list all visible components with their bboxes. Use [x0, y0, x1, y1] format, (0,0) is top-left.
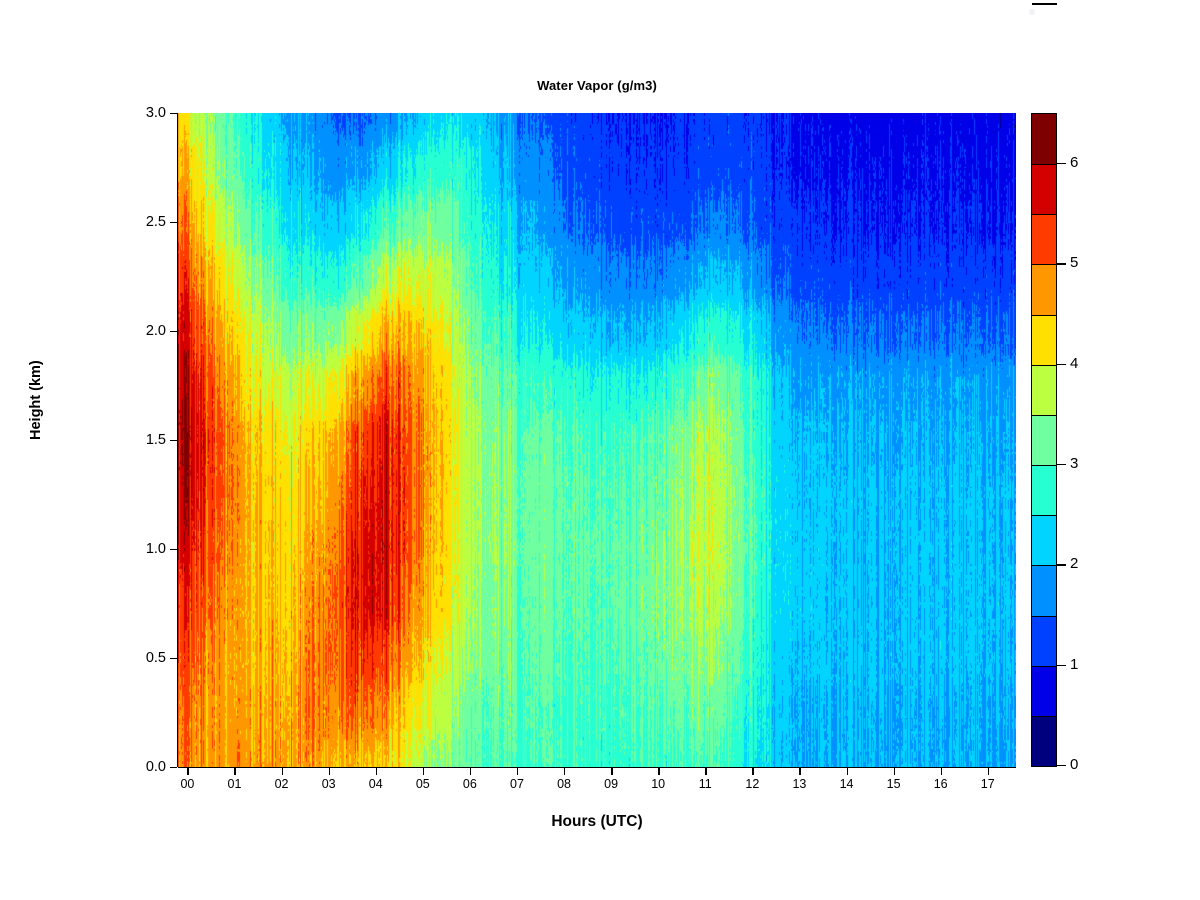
heatmap-plot-area — [178, 113, 1016, 767]
colorbar-separator — [1032, 666, 1056, 667]
x-tick-11 — [705, 768, 706, 775]
colorbar-tick-4 — [1057, 364, 1066, 365]
x-tick-12 — [752, 768, 753, 775]
colorbar-tick-label: 3 — [1070, 455, 1078, 472]
colorbar-band — [1032, 214, 1056, 264]
x-tick-01 — [234, 768, 235, 775]
colorbar-tick-label: 4 — [1070, 355, 1078, 372]
x-tick-14 — [847, 768, 848, 775]
colorbar-band — [1032, 565, 1056, 615]
colorbar-separator — [1032, 716, 1056, 717]
y-tick-2.0 — [170, 331, 177, 332]
colorbar-tick-5 — [1057, 263, 1066, 264]
top-edge-artifact — [1032, 3, 1057, 5]
y-tick-0.5 — [170, 658, 177, 659]
y-tick-label: 0.5 — [122, 650, 166, 666]
colorbar-tick-label: 6 — [1070, 154, 1078, 171]
colorbar-tick-0 — [1057, 765, 1066, 766]
x-tick-10 — [658, 768, 659, 775]
colorbar-separator — [1032, 315, 1056, 316]
x-tick-17 — [988, 768, 989, 775]
x-tick-09 — [611, 768, 612, 775]
x-tick-label: 08 — [544, 777, 584, 791]
x-tick-06 — [470, 768, 471, 775]
colorbar-separator — [1032, 616, 1056, 617]
colorbar-tick-label: 5 — [1070, 254, 1078, 271]
y-tick-label: 1.5 — [122, 432, 166, 448]
x-tick-label: 16 — [921, 777, 961, 791]
colorbar-separator — [1032, 565, 1056, 566]
y-tick-label: 2.5 — [122, 214, 166, 230]
figure-canvas: Water Vapor (g/m3) 0.00.51.01.52.02.53.0… — [0, 0, 1200, 900]
colorbar-tick-1 — [1057, 665, 1066, 666]
colorbar-tick-3 — [1057, 464, 1066, 465]
y-tick-1.5 — [170, 440, 177, 441]
x-tick-13 — [799, 768, 800, 775]
x-tick-label: 06 — [450, 777, 490, 791]
x-tick-label: 11 — [685, 777, 725, 791]
colorbar-separator — [1032, 515, 1056, 516]
colorbar-separator — [1032, 264, 1056, 265]
x-tick-00 — [187, 768, 188, 775]
x-tick-label: 15 — [874, 777, 914, 791]
colorbar-separator — [1032, 365, 1056, 366]
corner-speck-artifact — [1029, 9, 1035, 15]
x-tick-05 — [423, 768, 424, 775]
colorbar-tick-label: 1 — [1070, 656, 1078, 673]
x-tick-label: 03 — [309, 777, 349, 791]
colorbar-band — [1032, 114, 1056, 164]
colorbar-tick-label: 2 — [1070, 555, 1078, 572]
colorbar-band — [1032, 666, 1056, 716]
x-tick-15 — [894, 768, 895, 775]
y-tick-3.0 — [170, 113, 177, 114]
x-tick-08 — [564, 768, 565, 775]
x-tick-label: 13 — [779, 777, 819, 791]
colorbar-band — [1032, 264, 1056, 314]
x-tick-03 — [329, 768, 330, 775]
x-tick-label: 05 — [403, 777, 443, 791]
x-tick-label: 00 — [167, 777, 207, 791]
y-tick-2.5 — [170, 222, 177, 223]
x-tick-label: 02 — [262, 777, 302, 791]
x-tick-label: 07 — [497, 777, 537, 791]
colorbar-separator — [1032, 465, 1056, 466]
y-tick-0.0 — [170, 767, 177, 768]
colorbar — [1031, 113, 1057, 767]
x-axis-title: Hours (UTC) — [178, 813, 1016, 831]
colorbar-tick-label: 0 — [1070, 756, 1078, 773]
x-tick-label: 17 — [968, 777, 1008, 791]
x-tick-label: 14 — [827, 777, 867, 791]
page-title: Water Vapor (g/m3) — [178, 78, 1016, 93]
x-tick-label: 10 — [638, 777, 678, 791]
colorbar-band — [1032, 315, 1056, 365]
colorbar-separator — [1032, 214, 1056, 215]
y-tick-1.0 — [170, 549, 177, 550]
y-tick-label: 3.0 — [122, 105, 166, 121]
x-tick-07 — [517, 768, 518, 775]
x-tick-label: 09 — [591, 777, 631, 791]
x-tick-16 — [941, 768, 942, 775]
colorbar-band — [1032, 465, 1056, 515]
x-tick-02 — [282, 768, 283, 775]
x-tick-label: 04 — [356, 777, 396, 791]
y-tick-label: 1.0 — [122, 541, 166, 557]
y-tick-label: 2.0 — [122, 323, 166, 339]
y-tick-label: 0.0 — [122, 759, 166, 775]
x-axis-line — [178, 767, 1016, 768]
colorbar-band — [1032, 415, 1056, 465]
y-axis-title: Height (km) — [28, 360, 44, 440]
colorbar-tick-6 — [1057, 163, 1066, 164]
colorbar-band — [1032, 164, 1056, 214]
x-tick-label: 12 — [732, 777, 772, 791]
colorbar-separator — [1032, 415, 1056, 416]
x-tick-04 — [376, 768, 377, 775]
colorbar-band — [1032, 616, 1056, 666]
y-axis-line — [177, 113, 178, 767]
colorbar-separator — [1032, 164, 1056, 165]
colorbar-band — [1032, 365, 1056, 415]
colorbar-tick-2 — [1057, 564, 1066, 565]
colorbar-band — [1032, 515, 1056, 565]
x-tick-label: 01 — [214, 777, 254, 791]
water-vapor-heatmap — [178, 113, 1016, 767]
colorbar-band — [1032, 716, 1056, 766]
